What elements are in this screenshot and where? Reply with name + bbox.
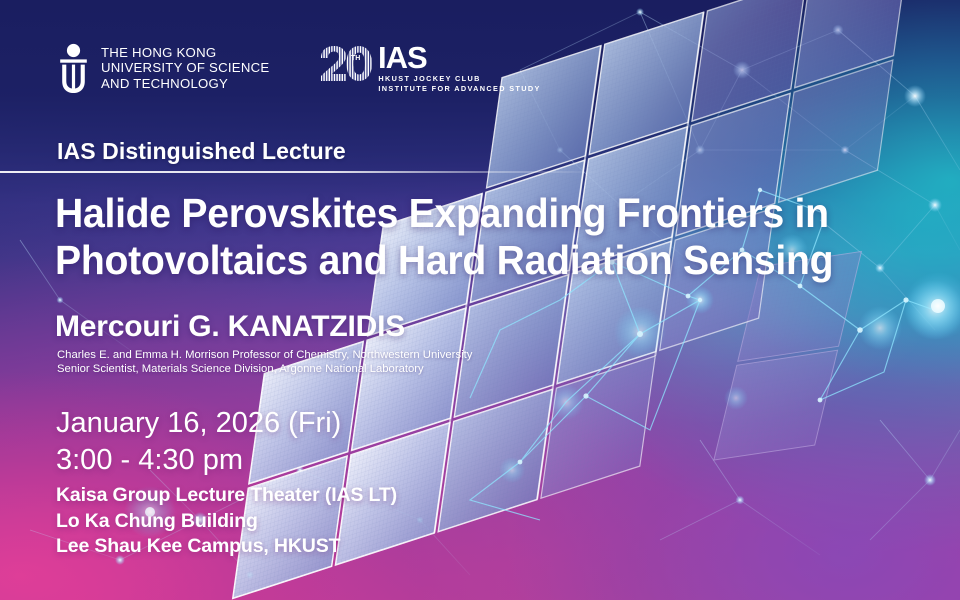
title-line-2: Photovoltaics and Hard Radiation Sensing <box>55 237 867 284</box>
event-date: January 16, 2026 (Fri) <box>56 405 397 442</box>
header-divider <box>0 171 600 173</box>
ias-th-suffix: TH <box>351 55 360 62</box>
event-time: 3:00 - 4:30 pm <box>56 442 397 479</box>
affiliation-line-1: Charles E. and Emma H. Morrison Professo… <box>57 348 472 362</box>
event-venue: Kaisa Group Lecture Theater (IAS LT) Lo … <box>56 483 397 560</box>
hkust-shield-icon <box>57 42 90 94</box>
hkust-line-3: AND TECHNOLOGY <box>101 76 269 92</box>
ias-subtitle: HKUST JOCKEY CLUB INSTITUTE FOR ADVANCED… <box>378 74 540 93</box>
ias-sub-line-2: INSTITUTE FOR ADVANCED STUDY <box>378 84 540 93</box>
logo-bar: THE HONG KONG UNIVERSITY OF SCIENCE AND … <box>57 42 541 94</box>
event-details: January 16, 2026 (Fri) 3:00 - 4:30 pm Ka… <box>56 405 397 560</box>
affiliation-line-2: Senior Scientist, Materials Science Divi… <box>57 362 472 376</box>
hkust-line-1: THE HONG KONG <box>101 45 269 61</box>
speaker-name: Mercouri G. KANATZIDIS <box>55 310 405 344</box>
page-title: Halide Perovskites Expanding Frontiers i… <box>55 190 867 284</box>
venue-line-2: Lo Ka Chung Building <box>56 509 397 535</box>
hkust-logo: THE HONG KONG UNIVERSITY OF SCIENCE AND … <box>57 42 269 94</box>
ias-sub-line-1: HKUST JOCKEY CLUB <box>378 74 540 83</box>
ias-20th-anniversary-icon: TH <box>317 44 373 90</box>
lecture-poster: THE HONG KONG UNIVERSITY OF SCIENCE AND … <box>0 0 960 600</box>
svg-text:IAS: IAS <box>378 43 427 73</box>
hkust-wordmark: THE HONG KONG UNIVERSITY OF SCIENCE AND … <box>101 45 269 92</box>
speaker-affiliation: Charles E. and Emma H. Morrison Professo… <box>57 348 472 377</box>
page-kicker: IAS Distinguished Lecture <box>57 138 346 165</box>
venue-line-3: Lee Shau Kee Campus, HKUST <box>56 534 397 560</box>
ias-wordmark-icon: IAS <box>378 43 496 73</box>
title-line-1: Halide Perovskites Expanding Frontiers i… <box>55 190 829 236</box>
hkust-line-2: UNIVERSITY OF SCIENCE <box>101 60 269 76</box>
ias-logo: TH IAS HKUST JOCKEY CLUB INSTITUTE FOR A… <box>317 43 540 93</box>
venue-line-1: Kaisa Group Lecture Theater (IAS LT) <box>56 483 397 509</box>
